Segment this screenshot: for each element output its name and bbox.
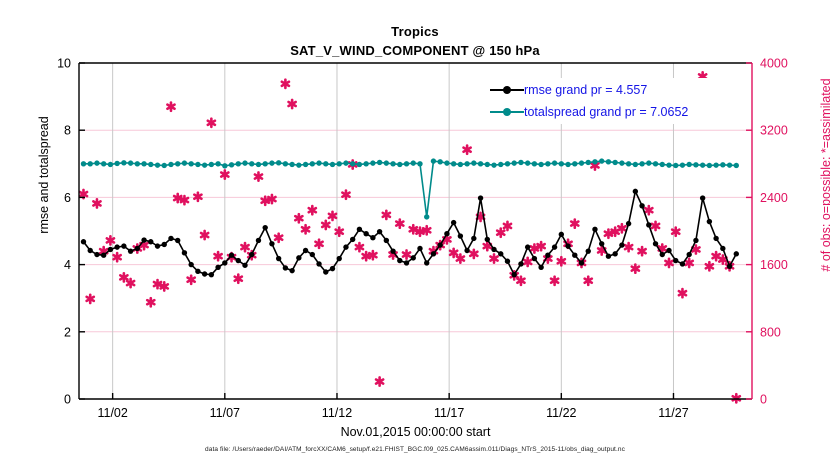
chart-legend: rmse grand pr = 4.557 totalspread grand …	[489, 78, 743, 124]
svg-text:0: 0	[760, 393, 767, 407]
legend-item-totalspread[interactable]: totalspread grand pr = 7.0652	[490, 101, 742, 123]
svg-text:11/07: 11/07	[210, 406, 240, 420]
legend-label-totalspread: totalspread grand pr = 7.0652	[524, 105, 688, 119]
data-file-caption: data file: /Users/raeder/DAI/ATM_forcXX/…	[0, 446, 830, 453]
legend-item-rmse[interactable]: rmse grand pr = 4.557	[490, 79, 742, 101]
svg-text:4: 4	[64, 258, 71, 272]
svg-text:11/17: 11/17	[434, 406, 464, 420]
svg-text:2400: 2400	[760, 191, 788, 205]
svg-text:800: 800	[760, 325, 781, 339]
svg-text:11/12: 11/12	[322, 406, 352, 420]
legend-marker-totalspread	[490, 105, 524, 119]
svg-text:3200: 3200	[760, 124, 788, 138]
legend-marker-rmse	[490, 83, 524, 97]
y-axis-label-right: # of obs: o=possible; *=assimilated	[819, 45, 830, 305]
svg-text:8: 8	[64, 124, 71, 138]
svg-text:6: 6	[64, 191, 71, 205]
title-line-2: SAT_V_WIND_COMPONENT @ 150 hPa	[0, 41, 830, 60]
svg-text:11/27: 11/27	[658, 406, 688, 420]
y-axis-label-left: rmse and totalspread	[37, 45, 51, 305]
series-totalspread	[81, 158, 739, 219]
x-axis-ticks: 11/0211/0711/1211/1711/2211/27	[97, 393, 688, 420]
chart-title: Tropics SAT_V_WIND_COMPONENT @ 150 hPa	[0, 22, 830, 60]
svg-text:0: 0	[64, 393, 71, 407]
svg-text:2: 2	[64, 325, 71, 339]
series-rmse	[81, 189, 739, 278]
x-axis-label: Nov.01,2015 00:00:00 start	[79, 425, 752, 439]
title-line-1: Tropics	[0, 22, 830, 41]
plot-area: 0246810 08001600240032004000 11/0211/071…	[0, 0, 830, 470]
figure-canvas: Tropics SAT_V_WIND_COMPONENT @ 150 hPa r…	[0, 0, 830, 470]
legend-label-rmse: rmse grand pr = 4.557	[524, 83, 647, 97]
y-axis-ticks-left: 0246810	[57, 57, 85, 407]
svg-text:11/02: 11/02	[97, 406, 127, 420]
svg-text:1600: 1600	[760, 258, 788, 272]
svg-text:11/22: 11/22	[546, 406, 576, 420]
